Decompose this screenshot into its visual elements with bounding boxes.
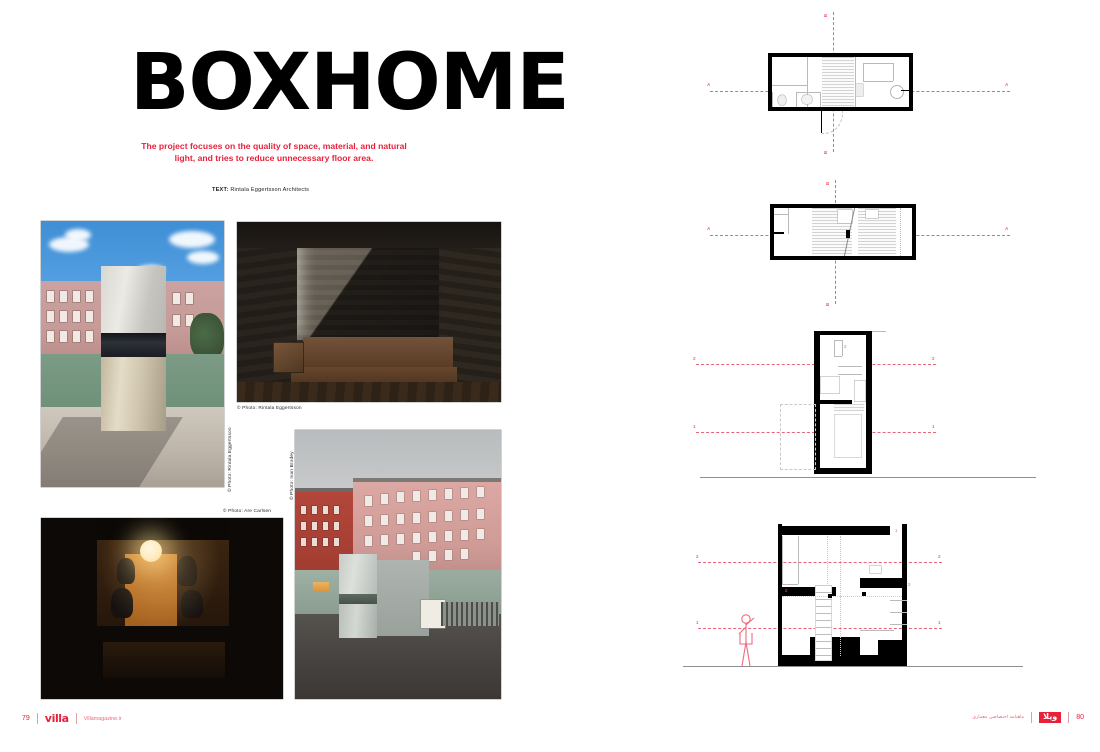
door-swing: [822, 111, 843, 134]
partition: [772, 85, 808, 86]
photo-night-interior-table-lamp: [41, 518, 283, 699]
opening: [866, 210, 878, 218]
partition-solid: [774, 232, 784, 234]
photo-credit-4: © Photo: Ivan Brodey: [290, 451, 295, 500]
partition: [855, 57, 856, 107]
partition: [820, 92, 821, 107]
callout-2: 2: [844, 344, 846, 349]
ground-line: [700, 477, 1036, 478]
level-mark-upper-right: 2: [938, 554, 941, 559]
box-window-band: [339, 594, 377, 604]
byline: TEXT: Rintala Eggertsson Architects: [212, 187, 309, 193]
ground-slab: [778, 655, 907, 666]
article-deck: The project focuses on the quality of sp…: [138, 140, 410, 165]
photo-interior-dark-wood-light-slot: [237, 222, 501, 402]
cloud: [187, 251, 219, 264]
metal-railing: [441, 602, 499, 626]
partition: [796, 92, 820, 93]
callout-2b: 2: [785, 588, 787, 593]
left-wall: [237, 222, 297, 402]
partition: [788, 208, 789, 234]
counter: [863, 81, 893, 82]
floor-boards: [237, 382, 501, 402]
divider: [1031, 712, 1032, 723]
counter: [863, 63, 864, 81]
footer-persian-text: ماهنامه اختصاصی معماری: [972, 715, 1024, 720]
projection-outline: [780, 404, 816, 470]
level-mark-upper-left: 2: [693, 356, 696, 361]
byline-label: TEXT:: [212, 187, 229, 193]
floor-edge: [41, 626, 283, 642]
section-mark-a-right: A: [1005, 82, 1008, 87]
door-leaf: [901, 90, 910, 91]
page-number-left: 79: [22, 715, 30, 722]
partition: [796, 92, 797, 107]
dark-left: [41, 518, 97, 699]
partition: [774, 214, 788, 215]
photo-credit-3: © Photo: Are Carlsen: [223, 509, 271, 514]
footer-right: ماهنامه اختصاصی معماری ویلا 80: [972, 712, 1084, 723]
photo-credit-2: © Photo: Rintala Eggertsson: [237, 406, 302, 411]
section-mark-a-left: A: [707, 82, 710, 87]
level-mark-lower-right: 1: [932, 424, 935, 429]
photo-exterior-metal-box-sunny: [41, 221, 224, 487]
cloud: [169, 231, 215, 248]
level-mark-upper-right: 2: [932, 356, 935, 361]
callout-1: 1: [895, 528, 897, 533]
dark-right: [229, 518, 283, 699]
divider: [1068, 712, 1069, 723]
lamp-glow: [97, 540, 229, 640]
human-scale-figure: [734, 612, 764, 668]
wooden-crate: [273, 342, 304, 373]
dark-bottom: [41, 678, 283, 699]
roof-overhang: [872, 331, 886, 332]
level-mark-upper-left: 2: [696, 554, 699, 559]
sink-fixture: [802, 95, 812, 104]
node: [828, 594, 832, 598]
magazine-spread: BOXHOME The project focuses on the quali…: [0, 0, 1100, 752]
partition: [772, 92, 773, 107]
page-left: BOXHOME The project focuses on the quali…: [0, 0, 550, 752]
level-mark-lower-left: 1: [693, 424, 696, 429]
floor-slab: [814, 468, 872, 474]
tree: [190, 313, 224, 359]
ceiling: [237, 222, 501, 248]
box-lower-volume: [339, 604, 377, 638]
section-mark-b-bottom: B: [825, 303, 830, 306]
section-mark-b-bottom: B: [823, 151, 828, 154]
box-upper-volume: [101, 266, 166, 333]
level-mark-lower-right: 1: [938, 620, 941, 625]
stair-hatch: [822, 57, 854, 107]
section-mark-b-top: B: [825, 182, 830, 185]
box-upper-volume: [339, 554, 377, 594]
photo-exterior-overcast-street: [295, 430, 501, 699]
page-title: BOXHOME: [130, 48, 569, 120]
light-shadow-diagonal: [295, 240, 440, 340]
callout-2a: 2: [908, 582, 910, 587]
wc-fixture: [778, 95, 786, 105]
node: [862, 592, 866, 596]
divider: [37, 713, 38, 724]
box-lower-volume: [101, 357, 166, 431]
right-wall: [866, 331, 872, 474]
section-mark-b-top: B: [823, 14, 828, 17]
roof-slab: [778, 526, 907, 535]
wood-platform: [303, 337, 453, 367]
section-mark-a-left: A: [707, 226, 710, 231]
counter: [893, 63, 894, 81]
level-mark-lower-left: 1: [696, 620, 699, 625]
lit-window: [313, 582, 329, 592]
byline-value: Rintala Eggertsson Architects: [230, 187, 309, 193]
villa-logo-persian: ویلا: [1039, 712, 1061, 723]
rail-post: [846, 230, 850, 238]
lower-level: [103, 640, 225, 680]
photo-credit-1: © Photo: Rintala Eggertsson: [228, 427, 233, 492]
section-mark-a-right: A: [1005, 226, 1008, 231]
counter: [863, 63, 893, 64]
opening: [838, 210, 852, 223]
entry-door: [821, 111, 822, 133]
villa-logo: villa: [45, 712, 69, 725]
footer-left: 79 villa Villamagazine.ir: [22, 712, 122, 725]
box-window-band: [101, 333, 166, 357]
page-number-right: 80: [1076, 714, 1084, 721]
cloud: [65, 229, 91, 241]
villa-url[interactable]: Villamagazine.ir: [84, 716, 122, 722]
mezzanine-right: [860, 578, 907, 588]
dashed-line: [900, 208, 901, 256]
appliance: [856, 84, 863, 96]
niche: [870, 566, 881, 573]
round-table: [890, 85, 904, 99]
divider: [76, 713, 77, 724]
page-right: A A B B: [550, 0, 1100, 752]
plinth-right: [878, 640, 907, 656]
